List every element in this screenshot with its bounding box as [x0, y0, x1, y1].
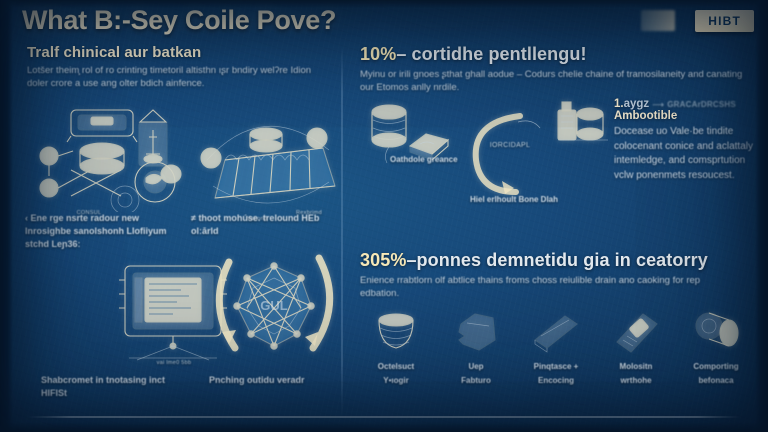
device-icon [609, 310, 663, 354]
right-section-1-heading-rest: – cortidhe pentllengu! [396, 44, 586, 64]
step-head-line: 1.aygz ⟶ GRACArDRCSHS [614, 98, 754, 110]
right-section-2-heading-rest: –ponnes demnetidu gia in ceatorry [406, 250, 707, 270]
circular-arrow-label: IORCIDAPL [474, 142, 546, 149]
tag-outline-icon [449, 310, 503, 354]
bottom-icon-label-5a: Comporting [678, 361, 754, 373]
bottom-icon-label-1b: Υ•ıogir [358, 375, 434, 387]
bottom-icon-label-2a: Uep [438, 361, 514, 373]
right-icon-label-1: Oathdole greance [390, 154, 464, 166]
globe-inner-label: GUL [260, 298, 288, 313]
bottom-icon-label-5b: befonaca [678, 375, 754, 387]
left-section-1-heading: Tralf chinical aur batkan [27, 44, 327, 61]
right-section-2-heading: 305%–ponnes demnetidu gia in ceatorry [360, 250, 754, 271]
step-block: 1.aygz ⟶ GRACArDRCSHS Ambootible Docease… [614, 98, 754, 183]
bottom-icon-label-1a: Octelsuct [358, 361, 434, 373]
cylinder-icon [689, 310, 743, 354]
blocks-stack-icon [552, 96, 612, 150]
bottom-rule-divider [28, 416, 740, 418]
left-caption-1: ‹ Ene rge nsrte radour new lnrosighbe sa… [25, 212, 175, 251]
left-caption-2: ≠ thoot mohúse. trelound HEb olːārld [191, 212, 341, 238]
stat-10-percent: 10% [360, 44, 396, 64]
right-section-1-heading: 10%– cortidhe pentllengu! [360, 44, 750, 65]
bottom-icon-cell-3: Pinqtasce + Encocing [518, 310, 594, 386]
circular-arrow-icon [458, 104, 550, 200]
badge-smear-decoration [641, 10, 675, 31]
left-edge-vignette [0, 0, 13, 432]
bottom-icon-cell-5: Comporting befonaca [678, 310, 754, 386]
stat-305-percent: 305% [360, 250, 406, 270]
bottom-icon-cell-1: Octelsuct Υ•ıogir [358, 310, 434, 386]
machinery-cluster-illustration [25, 104, 205, 212]
right-section-2-body: Enience rrabtlorn olf abtlice thains fro… [360, 274, 732, 301]
monitor-label: vai lme0 5bb [139, 360, 209, 366]
step-number: 1. [614, 98, 624, 110]
bottom-icon-label-2b: Fabturo [438, 375, 514, 387]
right-edge-vignette [755, 0, 768, 432]
bottom-icon-row: Octelsuct Υ•ıogir Uep Fabturo [358, 310, 754, 386]
page-title: What B:-Sey Coile Pove? [22, 5, 336, 36]
right-section-2: 305%–ponnes demnetidu gia in ceatorry En… [360, 250, 754, 301]
poster-header: What B:-Sey Coile Pove? HIBT [0, 0, 768, 42]
bottom-icon-label-4b: wrthohe [598, 375, 674, 387]
step-faint-tag: GRACArDRCSHS [667, 100, 736, 109]
left-section-1-body: Lotšer theim̧ rol of ro crinting timetor… [27, 64, 319, 91]
step-body: Docease uo Vale·be tindite colocenant co… [614, 125, 754, 183]
bottom-icon-label-3b: Encocing [518, 375, 594, 387]
left-caption-3: Shabcromet in tnotasing inct HIFISt [41, 374, 171, 400]
step-subtitle: Ambootible [614, 110, 754, 122]
right-section-1: 10%– cortidhe pentllengu! Myinu or irili… [360, 44, 750, 95]
bottom-icon-cell-4: Molositn wrthohe [598, 310, 674, 386]
bottom-icon-label-4a: Molositn [598, 361, 674, 373]
left-caption-4: Pnching outidu veradr [209, 374, 329, 387]
bottom-icon-cell-2: Uep Fabturo [438, 310, 514, 386]
bottom-icon-label-3a: Pinqtasce + [518, 361, 594, 373]
right-icon-label-2: Hiel erlhoult Bone Dlah [470, 194, 560, 206]
conveyor-cluster-illustration [195, 102, 345, 212]
right-section-1-body: Myinu or irili gnoes ʂthat ghall aodue –… [360, 68, 746, 95]
left-column: Tralf chinical aur batkan Lotšer theim̧ … [13, 42, 340, 432]
left-section-1: Tralf chinical aur batkan Lotšer theim̧ … [27, 44, 327, 91]
brand-badge: HIBT [695, 10, 754, 32]
network-globe-illustration: GUL [203, 248, 345, 370]
slab-icon [529, 310, 583, 354]
right-column: 10%– cortidhe pentllengu! Myinu or irili… [352, 42, 755, 432]
infographic-poster: What B:-Sey Coile Pove? HIBT Tralf chini… [0, 0, 768, 432]
step-arrow: ⟶ [652, 100, 664, 109]
layered-disc-icon [369, 310, 423, 354]
step-title: aygz [624, 98, 650, 110]
